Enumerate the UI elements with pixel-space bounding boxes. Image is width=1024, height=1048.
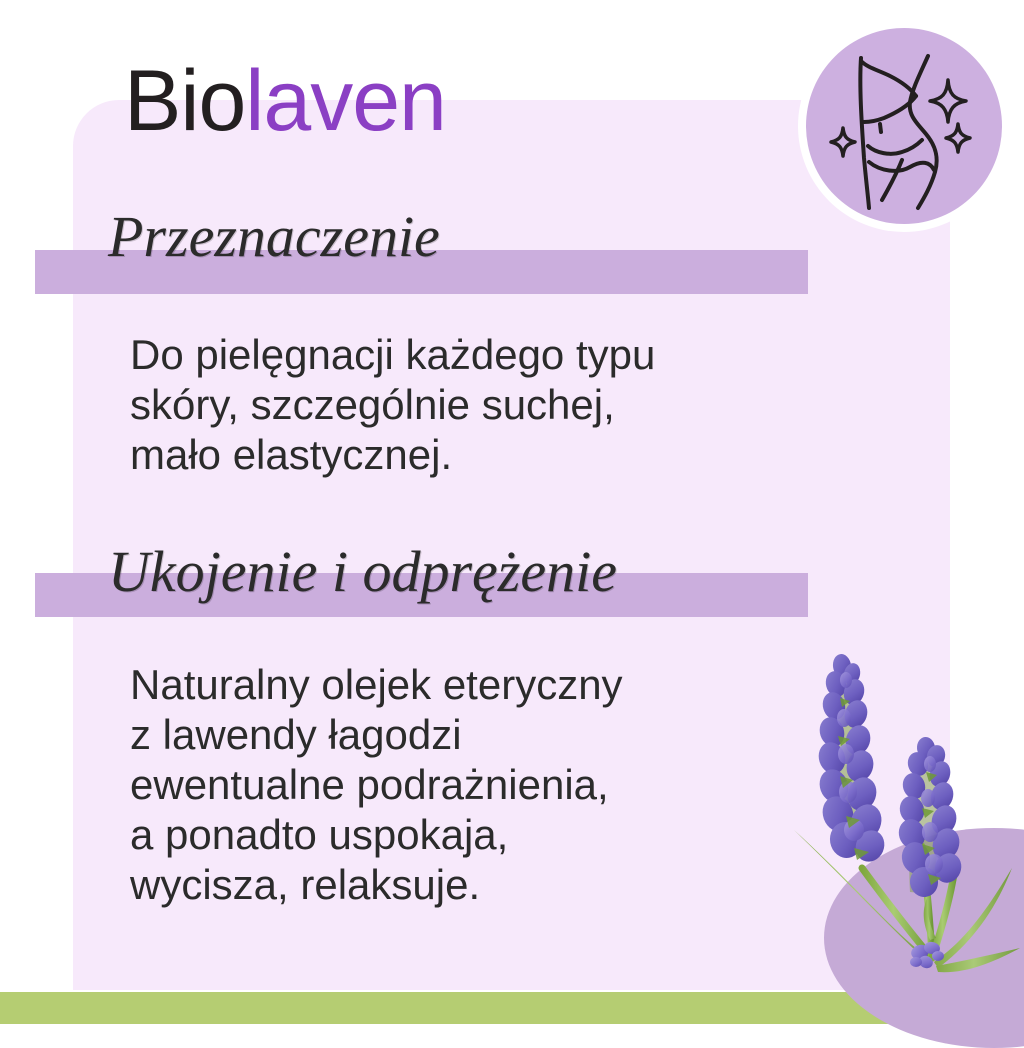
body-silhouette-sparkle-icon	[806, 28, 1002, 224]
brand-logo-bio: Bio	[124, 53, 245, 149]
lavender-illustration	[780, 640, 1024, 1024]
section-heading-ukojenie: Ukojenie i odprężenie	[108, 543, 617, 601]
section-body-ukojenie: Naturalny olejek eteryczny z lawendy łag…	[130, 660, 623, 910]
lavender-flowers-icon	[780, 640, 1024, 1024]
brand-logo-laven: laven	[245, 53, 446, 149]
brand-logo: Biolaven	[124, 58, 446, 144]
section-heading-przeznaczenie: Przeznaczenie	[108, 208, 440, 266]
section-body-przeznaczenie: Do pielęgnacji każdego typu skóry, szcze…	[130, 330, 655, 480]
body-silhouette-badge	[806, 28, 1002, 224]
